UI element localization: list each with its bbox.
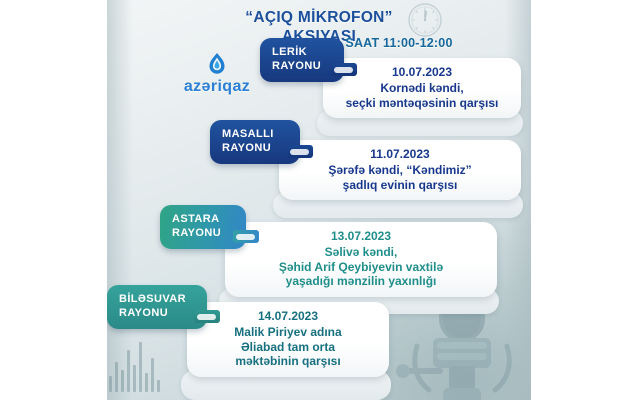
- badge-lerik-line1: LERİK: [272, 46, 332, 60]
- connector-nub: [287, 145, 313, 158]
- connector-nub: [233, 230, 259, 243]
- badge-masalli[interactable]: MASALLI RAYONU: [210, 120, 300, 164]
- equalizer-icon: [109, 332, 160, 392]
- badge-lerik-line2: RAYONU: [272, 60, 332, 74]
- place-line: seçki məntəqəsinin qarşısı: [335, 96, 509, 111]
- screenshot-canvas: “AÇIQ MİKROFON” AKSIYASI azəriqaz SAAT 1…: [0, 0, 637, 400]
- badge-astara[interactable]: ASTARA RAYONU: [160, 205, 246, 249]
- badge-bilesuvar-line1: BİLƏSUVAR: [119, 293, 195, 307]
- place-line: yaşadığı mənzilin yaxınlığı: [237, 274, 485, 289]
- badge-masalli-line1: MASALLI: [222, 128, 288, 142]
- connector-nub: [331, 63, 357, 76]
- card-masalli[interactable]: 11.07.2023 Şərəfə kəndi, “Kəndimiz” şadl…: [279, 140, 521, 200]
- place-line: Şərəfə kəndi, “Kəndimiz”: [291, 163, 509, 178]
- badge-astara-line1: ASTARA: [172, 213, 234, 227]
- card-astara[interactable]: 13.07.2023 Səlivə kəndi, Şəhid Arif Qeyb…: [225, 222, 497, 297]
- campaign-poster: “AÇIQ MİKROFON” AKSIYASI azəriqaz SAAT 1…: [107, 0, 531, 400]
- place-line: Əliabad tam orta: [199, 340, 377, 355]
- badge-bilesuvar[interactable]: BİLƏSUVAR RAYONU: [107, 285, 207, 329]
- title-line-1: “AÇIQ MİKROFON”: [245, 9, 392, 26]
- badge-bilesuvar-line2: RAYONU: [119, 307, 195, 321]
- card-masalli-place: Şərəfə kəndi, “Kəndimiz” şadlıq evinin q…: [291, 163, 509, 192]
- badge-astara-line2: RAYONU: [172, 227, 234, 241]
- place-line: Şəhid Arif Qeybiyevin vaxtilə: [237, 260, 485, 275]
- badge-masalli-line2: RAYONU: [222, 142, 288, 156]
- place-line: Kornədi kəndi,: [335, 81, 509, 96]
- badge-lerik[interactable]: LERİK RAYONU: [260, 38, 344, 82]
- card-bilesuvar-place: Malik Piriyev adına Əliabad tam orta mək…: [199, 325, 377, 369]
- card-masalli-date: 11.07.2023: [291, 147, 509, 162]
- brand-name: azəriqaz: [184, 78, 250, 95]
- flame-icon: [206, 52, 228, 76]
- connector-nub: [194, 310, 220, 323]
- place-line: Malik Piriyev adına: [199, 325, 377, 340]
- card-lerik-place: Kornədi kəndi, seçki məntəqəsinin qarşıs…: [335, 81, 509, 110]
- place-line: şadlıq evinin qarşısı: [291, 178, 509, 193]
- card-lerik-date: 10.07.2023: [335, 65, 509, 80]
- place-line: məktəbinin qarşısı: [199, 354, 377, 369]
- card-astara-place: Səlivə kəndi, Şəhid Arif Qeybiyevin vaxt…: [237, 245, 485, 289]
- card-bilesuvar-date: 14.07.2023: [199, 309, 377, 324]
- place-line: Səlivə kəndi,: [237, 245, 485, 260]
- card-astara-date: 13.07.2023: [237, 229, 485, 244]
